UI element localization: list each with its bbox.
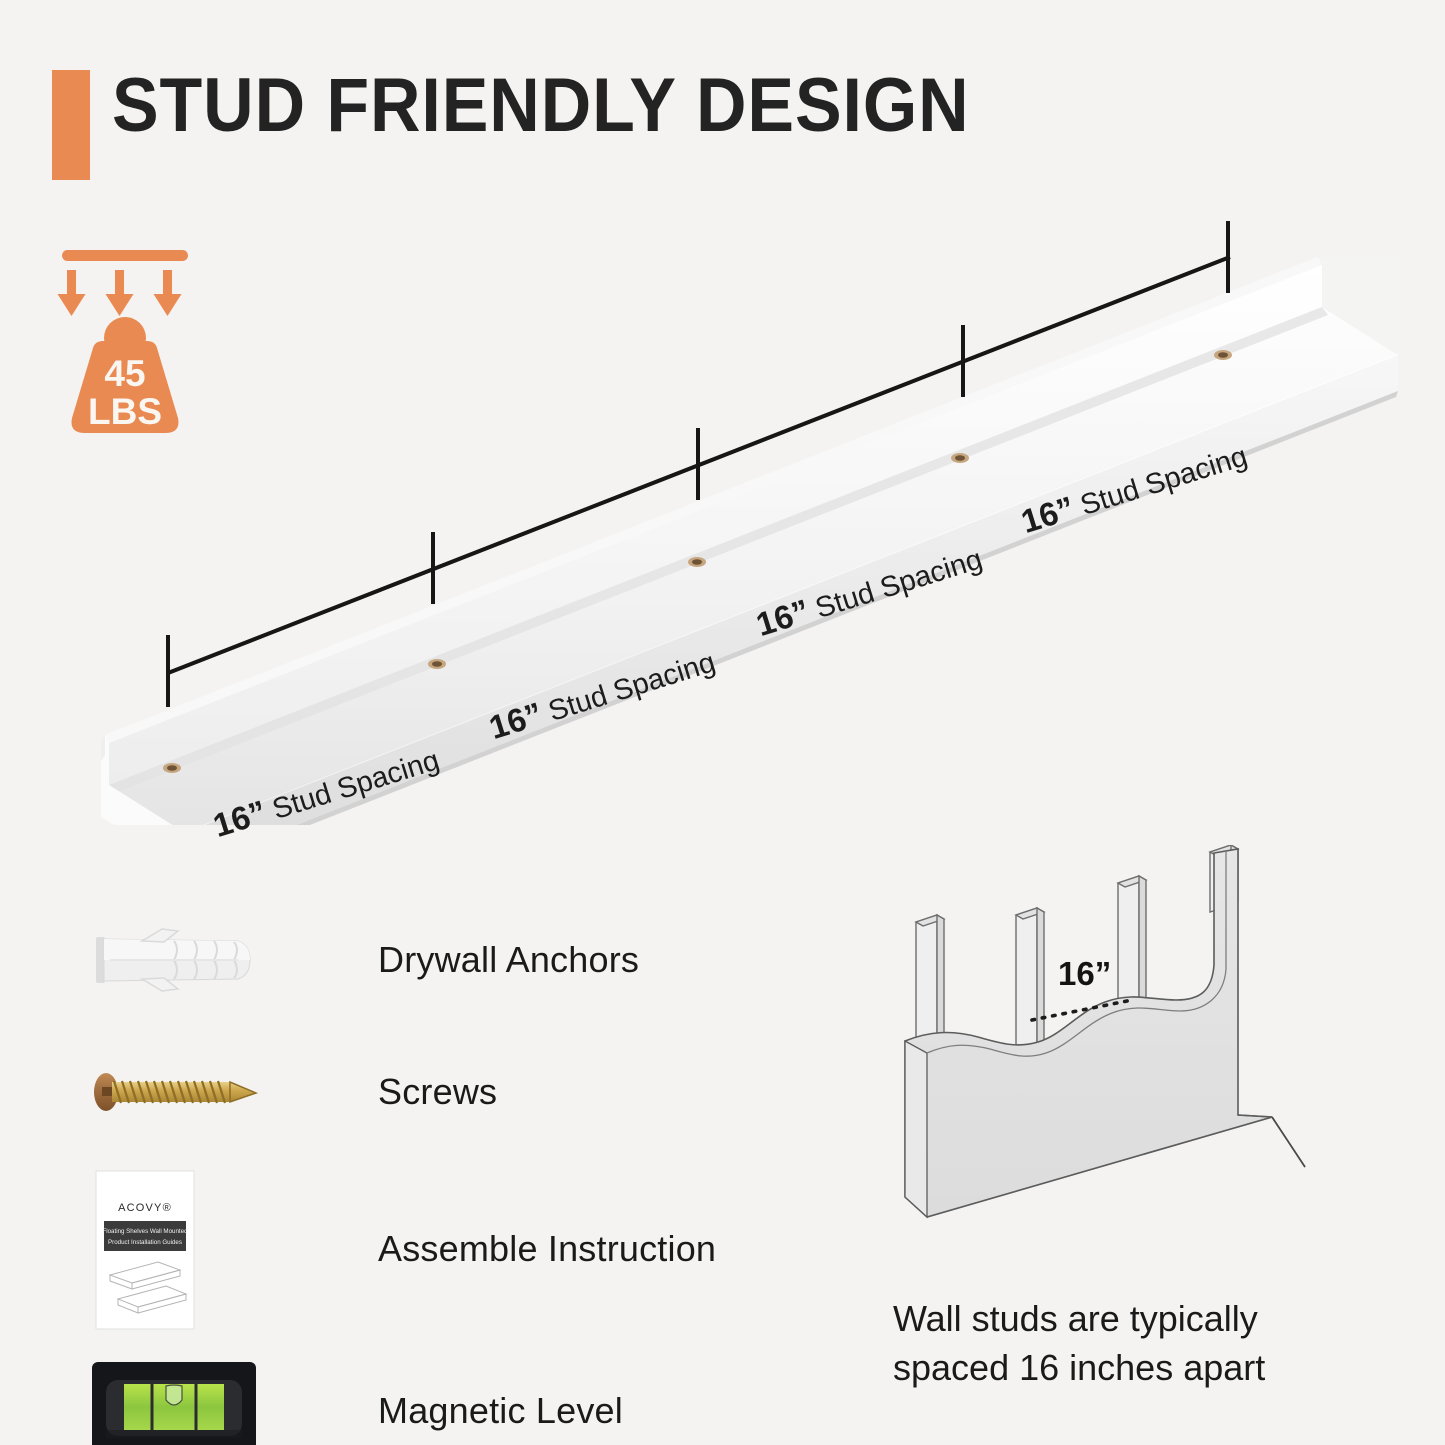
wall-diagram-dimension-label: 16” [1058, 955, 1111, 992]
caption-line-1: Wall studs are typically [893, 1295, 1363, 1344]
wall-diagram-caption: Wall studs are typically spaced 16 inche… [893, 1295, 1363, 1392]
infographic-page: STUD FRIENDLY DESIGN 45 LBS [0, 0, 1445, 1445]
screw-hole [688, 557, 706, 567]
manual-title-line-2: Product Installation Guides [108, 1239, 182, 1246]
header-accent-bar [52, 70, 90, 180]
manual-title-line-1: Floating Shelves Wall Mounted [102, 1228, 188, 1235]
accessory-label: Screws [378, 1071, 497, 1113]
accessory-item-drywall-anchors: Drywall Anchors [88, 900, 788, 1020]
screw-hole [163, 763, 181, 773]
wall-stud-diagram: 16” [880, 845, 1370, 1275]
accessory-label: Drywall Anchors [378, 939, 639, 981]
accessory-list: Drywall Anchors [88, 900, 788, 1445]
magnetic-level-icon [88, 1356, 278, 1445]
caption-line-2: spaced 16 inches apart [893, 1344, 1363, 1393]
accessory-label: Assemble Instruction [378, 1228, 716, 1270]
screw-hole [428, 659, 446, 669]
shelf-illustration: 16” Stud Spacing 16” Stud Spacing 16” St… [60, 195, 1400, 825]
shelf-body [101, 255, 1400, 825]
drywall-sheet [905, 849, 1272, 1217]
screw-hole [1214, 350, 1232, 360]
page-title: STUD FRIENDLY DESIGN [112, 62, 970, 149]
accessory-item-screws: Screws [88, 1032, 788, 1152]
screw-icon [88, 1037, 278, 1147]
accessory-label: Magnetic Level [378, 1390, 623, 1432]
instruction-manual-icon: ACOVY® Floating Shelves Wall Mounted Pro… [88, 1167, 278, 1332]
wall-stud [1016, 908, 1044, 1056]
accessory-item-assemble-instruction: ACOVY® Floating Shelves Wall Mounted Pro… [88, 1164, 788, 1334]
accessory-item-magnetic-level: Magnetic Level [88, 1346, 788, 1445]
drywall-anchor-icon [88, 905, 278, 1015]
screw-hole [951, 453, 969, 463]
manual-brand: ACOVY® [118, 1202, 172, 1214]
